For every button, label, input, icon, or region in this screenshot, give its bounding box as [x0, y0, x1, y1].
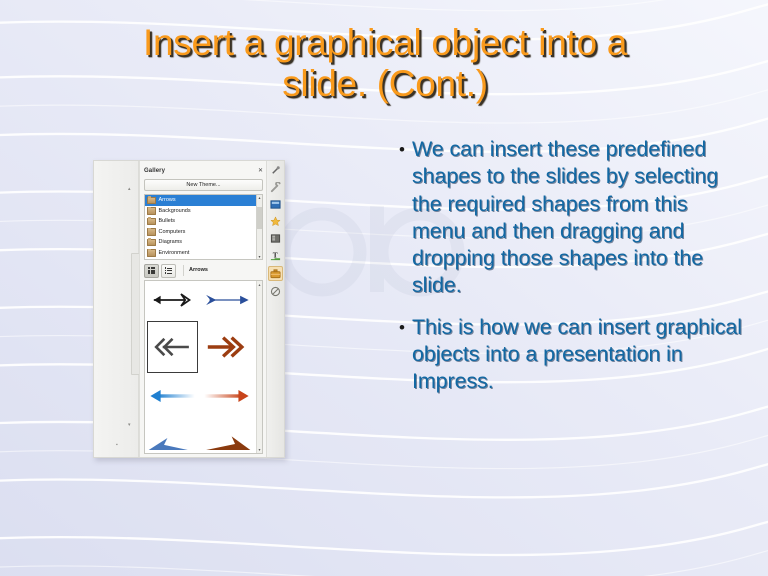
- theme-list-item-bullets[interactable]: Bullets: [145, 216, 262, 227]
- thumbnail-double-headed-fletched-arrow[interactable]: [147, 283, 198, 317]
- new-theme-button-label: New Theme...: [186, 182, 220, 188]
- list-item: • This is how we can insert graphical ob…: [392, 314, 744, 396]
- thumbnail-cells: [145, 281, 256, 453]
- body-text-block: • We can insert these predefined shapes …: [392, 136, 744, 410]
- gallery-icon[interactable]: [268, 266, 283, 281]
- title-line-2: slide. (Cont.): [40, 63, 730, 104]
- scroll-down-arrow-icon[interactable]: ▾: [257, 254, 262, 259]
- theme-label: Arrows: [159, 197, 176, 203]
- bullet-marker-icon: •: [392, 136, 412, 164]
- thumbnail-blue-tapered-arrow[interactable]: [147, 431, 198, 454]
- thumbnail-blue-thin-double-arrow[interactable]: [201, 283, 252, 317]
- thumbnail-brown-tapered-arrow[interactable]: [201, 431, 252, 454]
- theme-label: Backgrounds: [159, 208, 191, 214]
- properties-panel-icon[interactable]: [269, 198, 282, 211]
- thumbnail-brown-chevron-right-arrow[interactable]: [201, 321, 252, 373]
- theme-list-scrollbar[interactable]: ▴ ▾: [256, 195, 262, 259]
- folder-icon: [147, 249, 156, 257]
- scroll-down-arrow-icon[interactable]: ▾: [257, 447, 262, 452]
- theme-label: Environment: [159, 250, 190, 256]
- theme-list-item-computers[interactable]: Computers: [145, 227, 262, 238]
- gallery-screenshot-image: ▴ ▾ ▪ Gallery ✕ New Theme... Arrows: [93, 160, 285, 458]
- list-view-button[interactable]: [161, 264, 176, 278]
- styles-star-icon[interactable]: [269, 215, 282, 228]
- icon-view-button[interactable]: [144, 264, 159, 278]
- scroll-up-arrow-icon: ▴: [128, 187, 131, 192]
- thumbnail-chevron-left-arrow[interactable]: [147, 321, 198, 373]
- close-icon[interactable]: ✕: [258, 168, 263, 174]
- scroll-up-arrow-icon[interactable]: ▴: [257, 282, 262, 287]
- title-line-1: Insert a graphical object into a: [40, 22, 730, 63]
- bullet-text: We can insert these predefined shapes to…: [412, 136, 744, 300]
- app-window-left-strip: ▴ ▾ ▪: [94, 161, 139, 457]
- folder-icon: [147, 207, 156, 215]
- folder-icon: [147, 228, 156, 236]
- page-title: Insert a graphical object into a slide. …: [40, 22, 730, 105]
- gallery-view-toolbar: Arrows: [144, 264, 263, 277]
- theme-list-item-environment[interactable]: Environment: [145, 248, 262, 259]
- gallery-panel-header: Gallery ✕: [144, 165, 263, 176]
- sidebar-tab-rail: T: [266, 161, 284, 457]
- gallery-panel-title: Gallery: [144, 168, 165, 174]
- status-dot-icon: ▪: [116, 443, 118, 448]
- gallery-theme-list[interactable]: Arrows Backgrounds Bullets Computers Dia…: [144, 194, 263, 260]
- thumbnail-grid-scrollbar[interactable]: ▴ ▾: [256, 281, 262, 453]
- bullet-marker-icon: •: [392, 314, 412, 342]
- master-slides-icon[interactable]: [269, 232, 282, 245]
- list-icon: [165, 267, 173, 274]
- list-item: • We can insert these predefined shapes …: [392, 136, 744, 300]
- theme-label: Bullets: [159, 218, 176, 224]
- text-animation-icon[interactable]: T: [269, 249, 282, 262]
- scrollbar-thumb[interactable]: [257, 207, 262, 229]
- theme-label: Diagrams: [159, 239, 183, 245]
- wrench-icon[interactable]: [269, 181, 282, 194]
- theme-list-item-backgrounds[interactable]: Backgrounds: [145, 206, 262, 217]
- scroll-up-arrow-icon[interactable]: ▴: [257, 195, 262, 200]
- folder-icon: [147, 239, 156, 247]
- new-theme-button[interactable]: New Theme...: [144, 179, 263, 191]
- svg-text:T: T: [273, 250, 278, 259]
- gallery-panel: Gallery ✕ New Theme... Arrows Background…: [139, 161, 266, 457]
- thumbnail-orange-gradient-right-arrow[interactable]: [201, 379, 252, 413]
- scroll-down-arrow-icon: ▾: [128, 423, 131, 428]
- settings-pin-icon[interactable]: [269, 164, 282, 177]
- folder-icon: [147, 218, 156, 226]
- navigator-icon[interactable]: [269, 285, 282, 298]
- current-theme-label: Arrows: [183, 265, 263, 276]
- theme-list-item-arrows[interactable]: Arrows: [145, 195, 262, 206]
- folder-icon: [147, 197, 156, 205]
- thumbnail-blue-gradient-left-arrow[interactable]: [147, 379, 198, 413]
- slide-canvas: Insert a graphical object into a slide. …: [0, 0, 768, 576]
- bullet-text: This is how we can insert graphical obje…: [412, 314, 744, 396]
- theme-label: Computers: [159, 229, 186, 235]
- grid-icon: [148, 267, 155, 274]
- theme-list-item-diagrams[interactable]: Diagrams: [145, 237, 262, 248]
- gallery-thumbnail-grid[interactable]: ▴ ▾: [144, 280, 263, 454]
